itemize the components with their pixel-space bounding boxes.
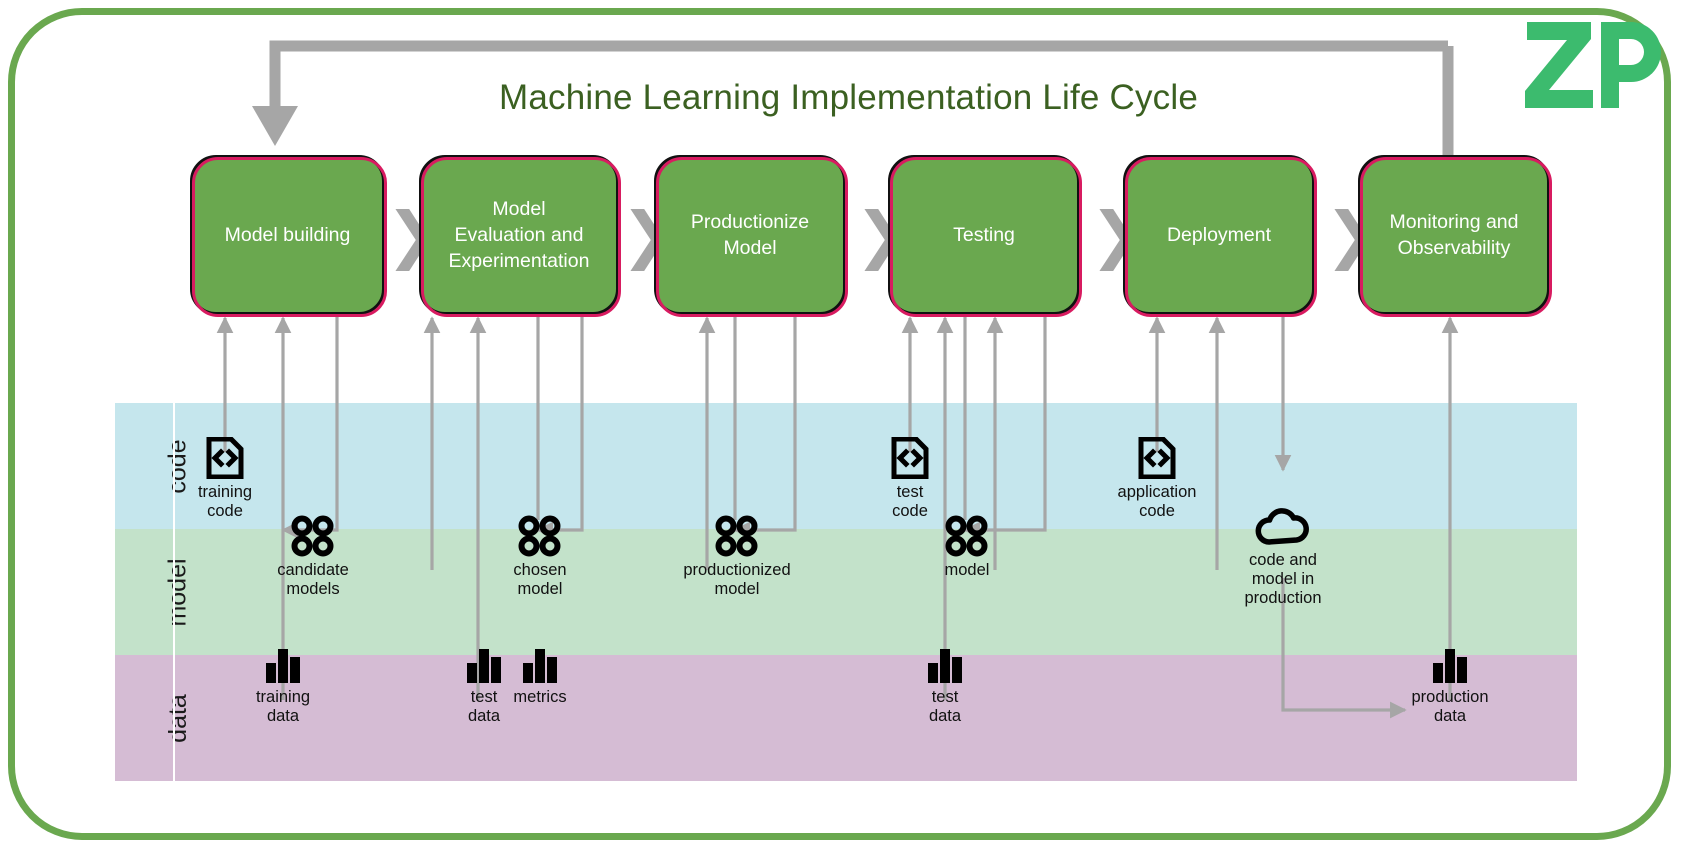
cloud-icon xyxy=(1254,505,1312,547)
bar-chart-icon xyxy=(923,642,967,684)
chevron-separator-5: ❯ xyxy=(1325,199,1355,271)
lane-label-data-text: data xyxy=(163,694,192,743)
artifact-training-code[interactable]: training code xyxy=(155,437,295,521)
process-box-testing[interactable]: Testing xyxy=(888,155,1080,315)
artifact-label: chosen model xyxy=(513,561,566,599)
bar-chart-icon xyxy=(518,642,562,684)
chevron-separator-3: ❯ xyxy=(855,199,885,271)
chevron-separator-4: ❯ xyxy=(1090,199,1120,271)
process-box-label: Testing xyxy=(953,222,1015,248)
process-box-label: Deployment xyxy=(1167,222,1271,248)
process-box-productionize-model[interactable]: Productionize Model xyxy=(654,155,846,315)
artifact-test-code[interactable]: test code xyxy=(840,437,980,521)
model-dots-icon xyxy=(290,515,336,557)
page-title: Machine Learning Implementation Life Cyc… xyxy=(0,78,1697,118)
model-dots-icon xyxy=(517,515,563,557)
chevron-separator-2: ❯ xyxy=(621,199,651,271)
artifact-label: production data xyxy=(1411,688,1488,726)
artifact-label: productionized model xyxy=(683,561,790,599)
artifact-test-data-testing[interactable]: test data xyxy=(875,642,1015,726)
artifact-candidate-models[interactable]: candidate models xyxy=(243,515,383,599)
bar-chart-icon xyxy=(261,642,305,684)
process-box-label: Productionize Model xyxy=(691,209,809,262)
artifact-label: training data xyxy=(256,688,310,726)
bar-chart-icon xyxy=(1428,642,1472,684)
lane-label-model: model xyxy=(115,529,241,655)
artifact-model[interactable]: model xyxy=(897,515,1037,580)
process-box-label: Monitoring and Observability xyxy=(1390,209,1519,262)
artifact-code-and-model-in-production[interactable]: code and model in production xyxy=(1213,505,1353,608)
process-box-label: Model Evaluation and Experimentation xyxy=(449,196,590,275)
artifact-production-data[interactable]: production data xyxy=(1380,642,1520,726)
artifact-label: model xyxy=(945,561,990,580)
process-box-monitoring[interactable]: Monitoring and Observability xyxy=(1358,155,1550,315)
artifact-metrics[interactable]: metrics xyxy=(470,642,610,707)
process-box-label: Model building xyxy=(225,222,351,248)
process-box-model-evaluation[interactable]: Model Evaluation and Experimentation xyxy=(419,155,619,315)
code-file-icon xyxy=(206,437,244,479)
code-file-icon xyxy=(1138,437,1176,479)
artifact-label: metrics xyxy=(513,688,566,707)
chevron-separator-1: ❯ xyxy=(386,199,416,271)
artifact-label: code and model in production xyxy=(1244,551,1321,608)
artifact-application-code[interactable]: application code xyxy=(1087,437,1227,521)
artifact-training-data[interactable]: training data xyxy=(213,642,353,726)
artifact-label: candidate models xyxy=(277,561,349,599)
diagram-canvas: Machine Learning Implementation Life Cyc… xyxy=(0,0,1697,856)
model-dots-icon xyxy=(714,515,760,557)
process-box-model-building[interactable]: Model building xyxy=(190,155,385,315)
artifact-productionized-model[interactable]: productionized model xyxy=(667,515,807,599)
artifact-chosen-model[interactable]: chosen model xyxy=(470,515,610,599)
artifact-label: application code xyxy=(1118,483,1197,521)
code-file-icon xyxy=(891,437,929,479)
lane-label-model-text: model xyxy=(164,558,193,626)
process-box-deployment[interactable]: Deployment xyxy=(1123,155,1315,315)
artifact-label: test data xyxy=(929,688,961,726)
model-dots-icon xyxy=(944,515,990,557)
